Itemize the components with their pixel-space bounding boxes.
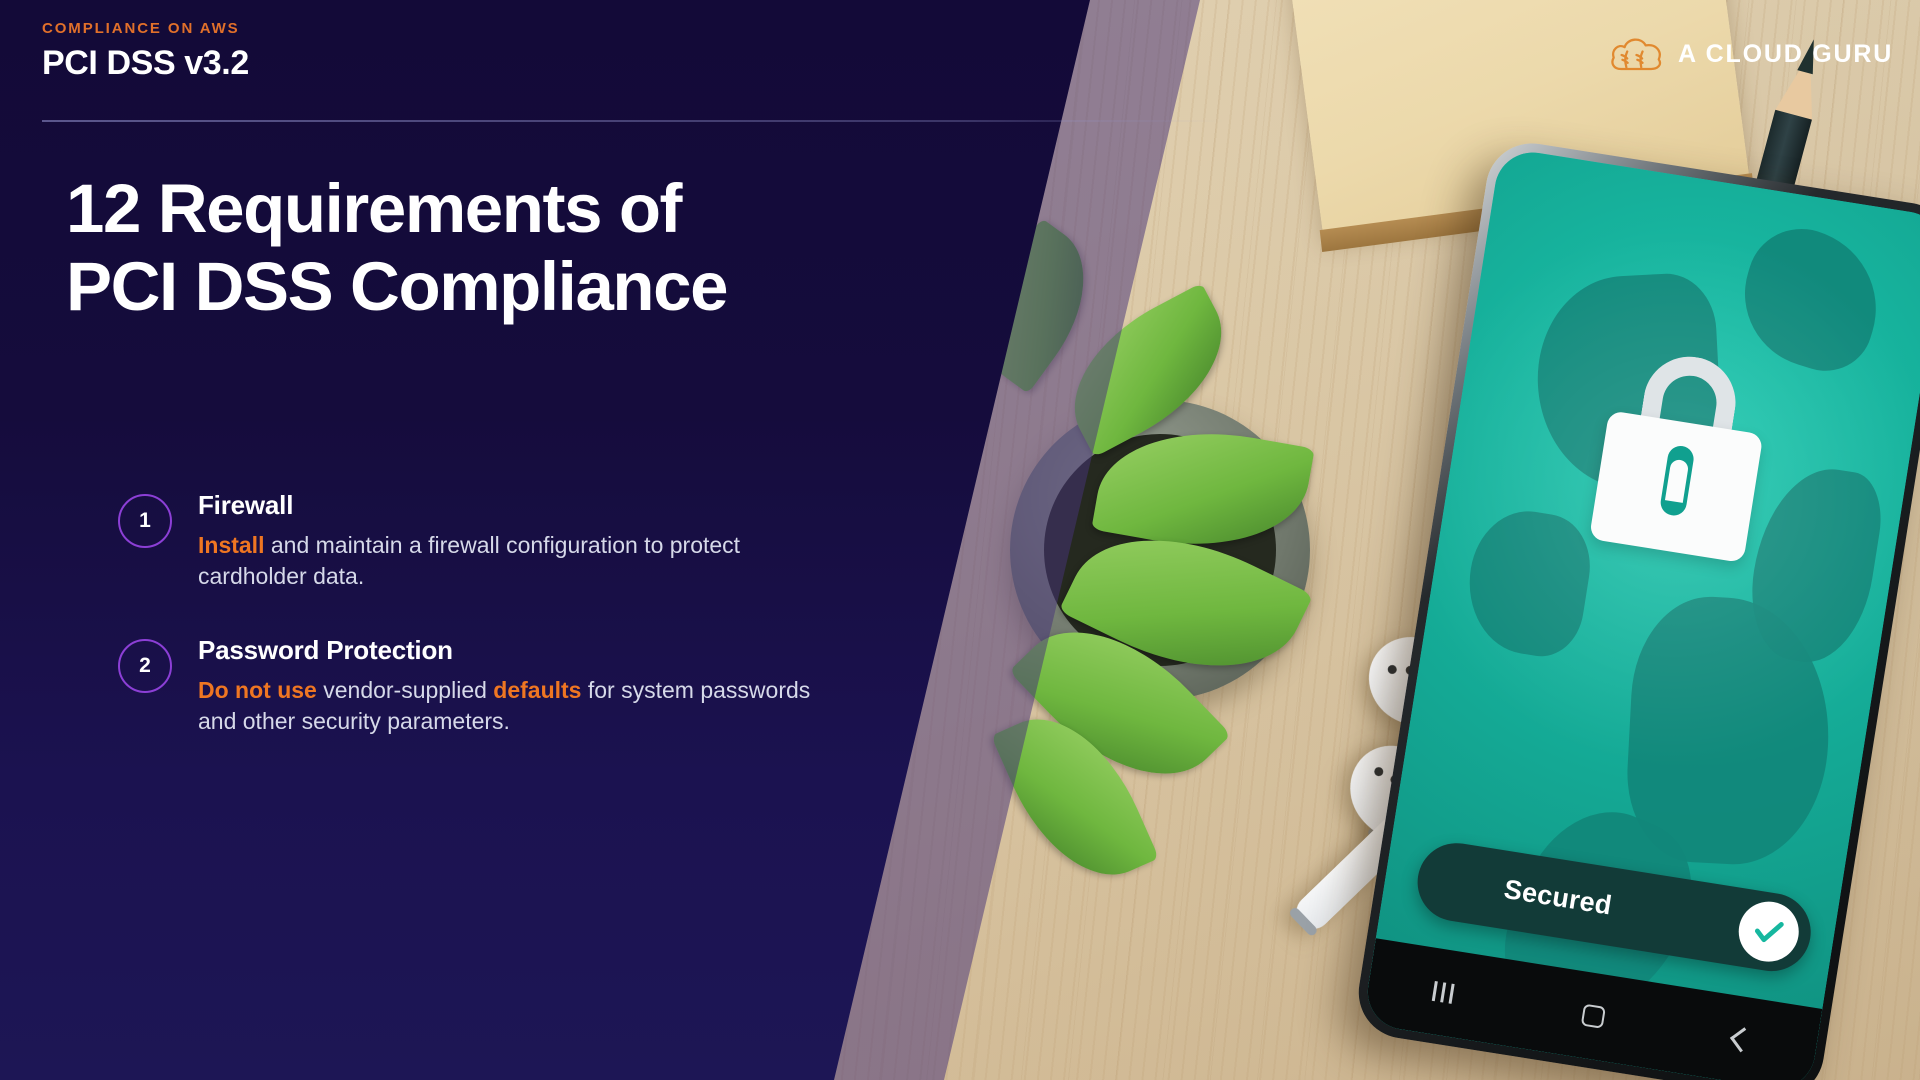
header-divider: [42, 120, 1227, 122]
slide-content: COMPLIANCE ON AWS PCI DSS v3.2 12 Requir…: [0, 0, 1920, 1080]
brand-logo[interactable]: A CLOUD GURU: [1608, 34, 1893, 74]
course-eyebrow-label: COMPLIANCE ON AWS: [42, 20, 240, 37]
requirement-description: Install and maintain a firewall configur…: [198, 530, 818, 591]
slide-root: Secured: [0, 0, 1920, 1080]
requirements-list: 1 Firewall Install and maintain a firewa…: [118, 490, 818, 780]
plain-text: vendor-supplied: [317, 677, 493, 703]
plain-text: and maintain a firewall configuration to…: [198, 532, 740, 589]
requirement-body: Firewall Install and maintain a firewall…: [198, 490, 818, 591]
requirement-body: Password Protection Do not use vendor-su…: [198, 635, 818, 736]
requirement-heading: Password Protection: [198, 635, 818, 666]
requirement-number-badge: 2: [118, 639, 172, 693]
requirement-number-badge: 1: [118, 494, 172, 548]
cloud-icon: [1608, 34, 1664, 74]
requirement-description: Do not use vendor-supplied defaults for …: [198, 675, 818, 736]
requirement-heading: Firewall: [198, 490, 818, 521]
highlighted-text: defaults: [493, 677, 581, 703]
course-kicker-title: PCI DSS v3.2: [42, 44, 249, 83]
list-item: 1 Firewall Install and maintain a firewa…: [118, 490, 818, 591]
page-title: 12 Requirements of PCI DSS Compliance: [66, 170, 727, 326]
list-item: 2 Password Protection Do not use vendor-…: [118, 635, 818, 736]
highlighted-text: Do not use: [198, 677, 317, 703]
page-title-line-1: 12 Requirements of: [66, 170, 727, 248]
brand-name: A CLOUD GURU: [1678, 40, 1893, 69]
highlighted-text: Install: [198, 532, 264, 558]
page-title-line-2: PCI DSS Compliance: [66, 248, 727, 326]
